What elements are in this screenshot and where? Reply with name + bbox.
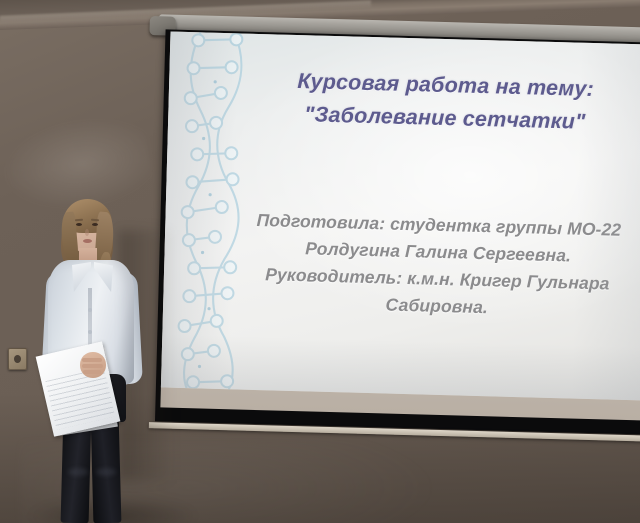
slide-title: Курсовая работа на тему: "Заболевание се… <box>238 63 640 140</box>
presenter <box>22 196 172 523</box>
presenter-eye-right <box>92 223 98 226</box>
presenter-knee-highlight <box>96 468 116 476</box>
slide-body: Подготовила: студентка группы МО-22 Ролд… <box>227 206 640 325</box>
presenter-finger <box>82 364 103 368</box>
presenter-finger <box>83 370 101 374</box>
projector-screen-frame: Курсовая работа на тему: "Заболевание се… <box>155 29 640 434</box>
lecture-room-photo: Курсовая работа на тему: "Заболевание се… <box>0 0 640 523</box>
presenter-blouse-button <box>88 330 92 334</box>
presenter-papers-ruled-lines <box>45 368 115 430</box>
slide-text-block: Курсовая работа на тему: "Заболевание се… <box>231 33 640 400</box>
presenter-blouse-button <box>88 308 92 312</box>
projected-slide: Курсовая работа на тему: "Заболевание се… <box>161 32 640 401</box>
presenter-finger <box>82 358 102 362</box>
presenter-mouth <box>83 239 92 243</box>
presenter-knee-highlight <box>68 468 88 476</box>
projector-screen-assembly: Курсовая работа на тему: "Заболевание се… <box>139 14 640 437</box>
presenter-eye-left <box>76 223 82 226</box>
presenter-hand-right <box>80 352 106 378</box>
presenter-nose <box>85 229 89 236</box>
